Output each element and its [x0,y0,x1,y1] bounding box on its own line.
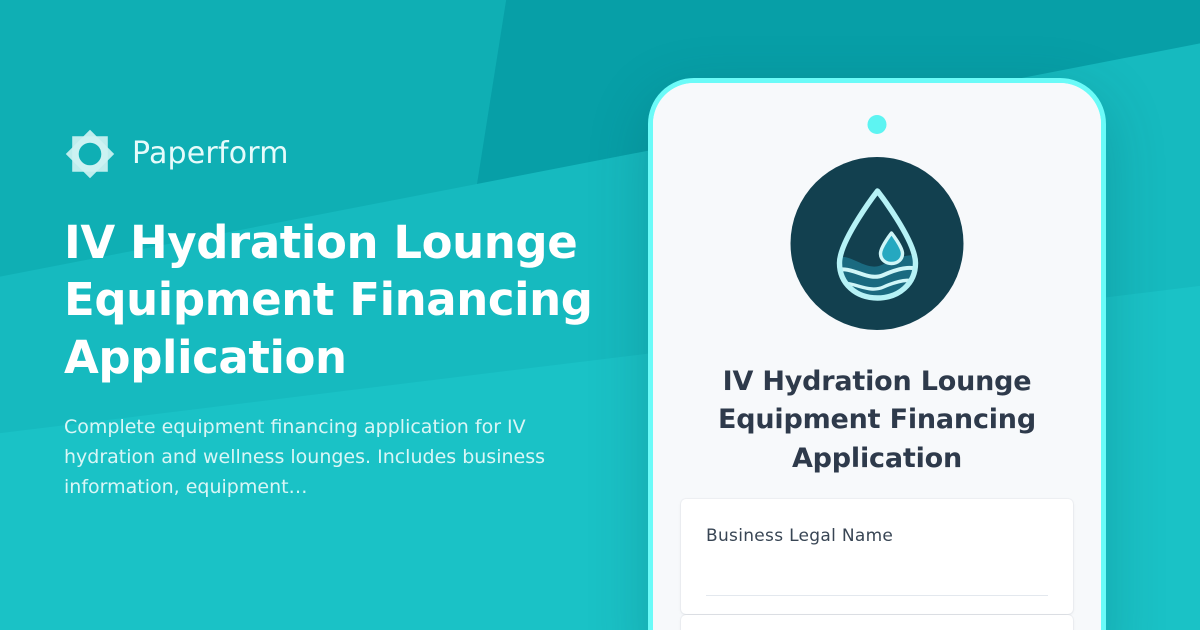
page-description: Complete equipment financing application… [64,412,574,502]
page-title: IV Hydration Lounge Equipment Financing … [64,214,604,385]
form-field-card-next[interactable] [681,615,1073,630]
field-input-business-legal-name[interactable] [706,595,1048,596]
phone-mockup: IV Hydration Lounge Equipment Financing … [648,78,1106,630]
brand-name: Paperform [132,139,289,169]
form-title: IV Hydration Lounge Equipment Financing … [685,363,1069,478]
camera-dot-icon [868,115,887,134]
og-preview-card: Paperform IV Hydration Lounge Equipment … [0,0,1200,630]
brand-lockup: Paperform [64,128,624,180]
field-label-business-legal-name: Business Legal Name [706,526,893,546]
form-field-card[interactable]: Business Legal Name [681,499,1073,614]
paperform-logo-icon [64,128,116,180]
form-logo-avatar [791,157,964,330]
hero-content: Paperform IV Hydration Lounge Equipment … [64,0,624,630]
phone-screen: IV Hydration Lounge Equipment Financing … [653,83,1101,630]
water-droplet-icon [825,185,929,303]
